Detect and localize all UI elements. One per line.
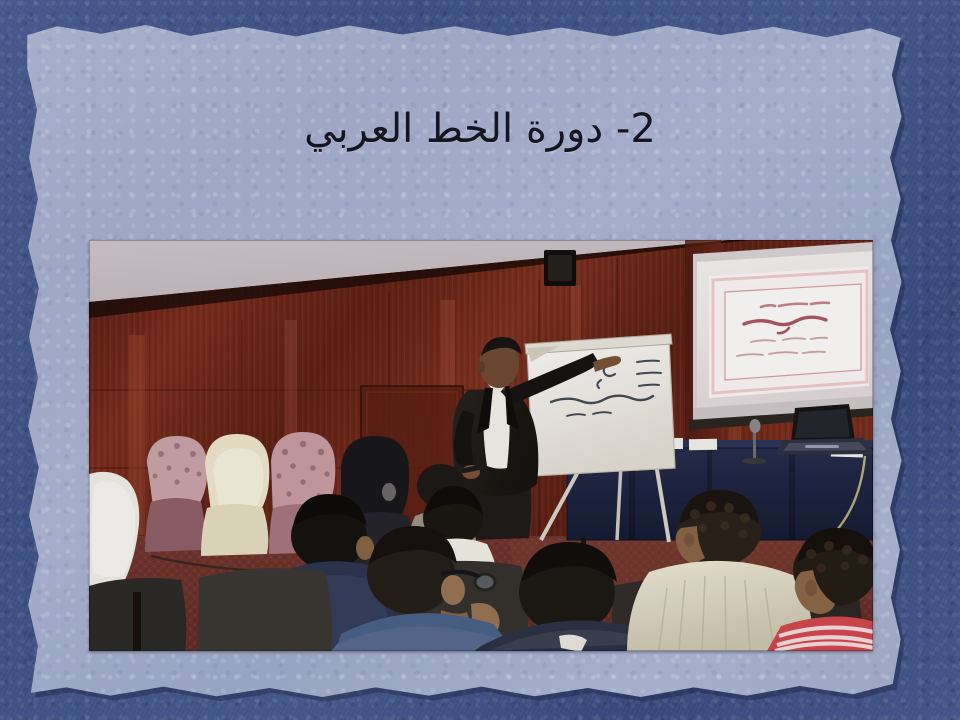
slide-canvas: 2- دورة الخط العربي [0, 0, 960, 720]
workshop-photo: NA [89, 240, 873, 651]
page-title: 2- دورة الخط العربي [0, 104, 960, 154]
